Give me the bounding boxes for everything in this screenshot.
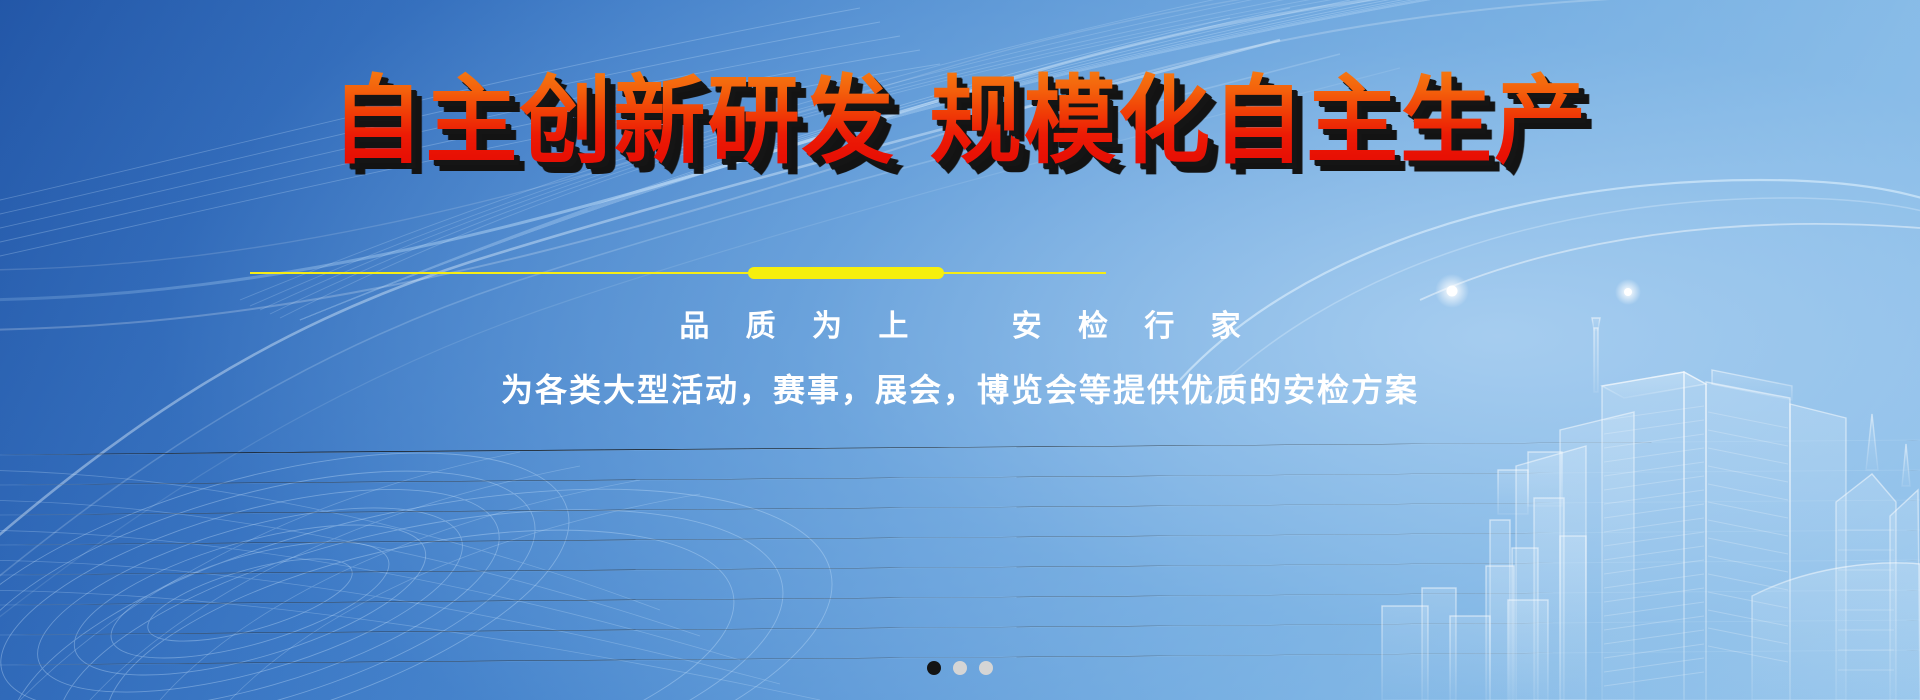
- carousel-dot-2[interactable]: [953, 661, 967, 675]
- banner-main-title: 自主创新研发 规模化自主生产: [331, 68, 1588, 176]
- orbit-glow-node-2: [1615, 279, 1641, 305]
- banner-title-container: 自主创新研发 规模化自主生产: [0, 68, 1920, 176]
- hero-banner-slide: 自主创新研发 规模化自主生产 品 质 为 上 安 检 行 家 为各类大型活动，赛…: [0, 0, 1920, 700]
- title-divider: [250, 272, 1106, 274]
- carousel-dot-1[interactable]: [927, 661, 941, 675]
- banner-subtitle-secondary: 为各类大型活动，赛事，展会，博览会等提供优质的安检方案: [0, 368, 1920, 413]
- ellipse-wireframe-net: [0, 394, 862, 700]
- divider-center-cap: [748, 267, 944, 279]
- carousel-indicators[interactable]: [0, 661, 1920, 675]
- orbit-glow-node-1: [1435, 274, 1469, 308]
- horizontal-grid-lines: [0, 440, 1920, 665]
- carousel-dot-3[interactable]: [979, 661, 993, 675]
- banner-subtitle-container: 品 质 为 上 安 检 行 家 为各类大型活动，赛事，展会，博览会等提供优质的安…: [0, 306, 1920, 413]
- banner-subtitle-primary: 品 质 为 上 安 检 行 家: [0, 306, 1920, 348]
